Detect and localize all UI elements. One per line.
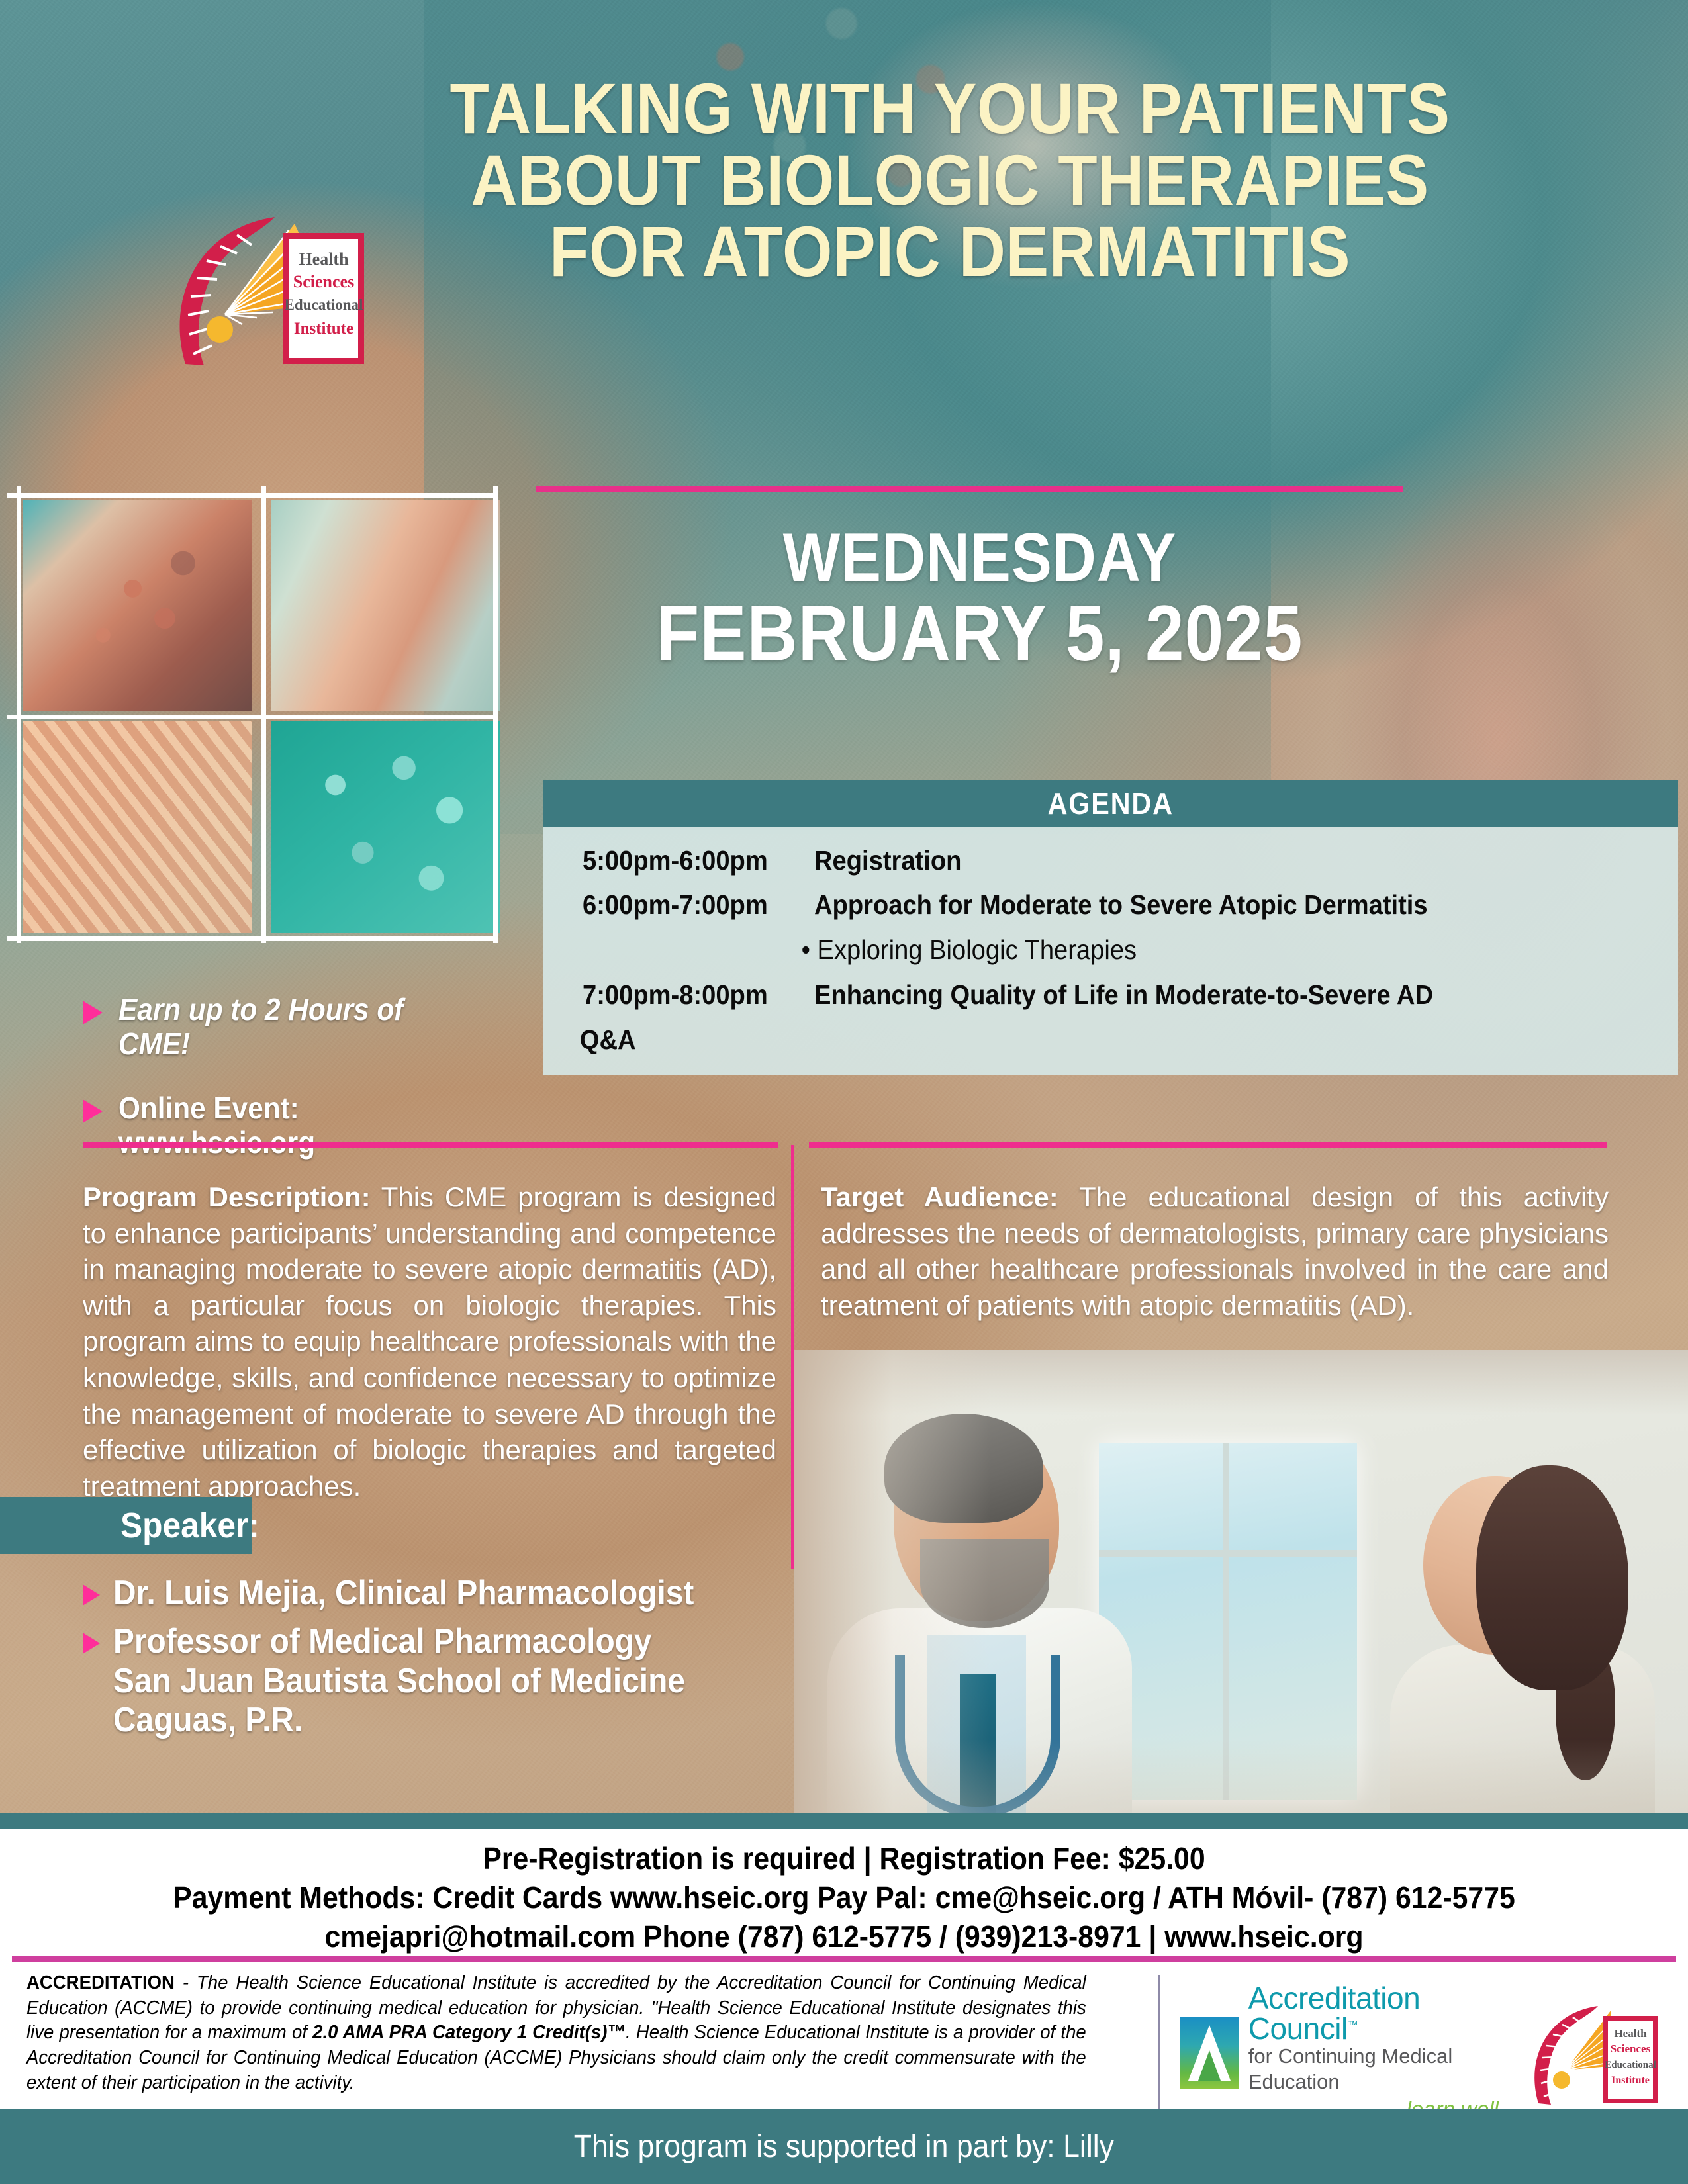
title-divider: [536, 486, 1403, 492]
svg-text:Health: Health: [299, 250, 349, 269]
agenda-time: 5:00pm-6:00pm: [583, 846, 798, 876]
skin-image-3: [23, 721, 252, 933]
list-item: Professor of Medical Pharmacology San Ju…: [83, 1622, 798, 1740]
accme-logo-text: Accreditation Council™ for Continuing Me…: [1248, 1983, 1499, 2123]
agenda-row: 6:00pm-7:00pm Approach for Moderate to S…: [543, 890, 1678, 920]
agenda-panel: AGENDA 5:00pm-6:00pm Registration 6:00pm…: [543, 780, 1678, 1075]
program-description-label: Program Description:: [83, 1181, 371, 1212]
support-text: This program is supported in part by: Li…: [574, 2128, 1114, 2165]
svg-text:Health: Health: [1614, 2027, 1647, 2040]
event-day: WEDNESDAY: [595, 523, 1364, 593]
svg-text:Institute: Institute: [294, 320, 353, 338]
accreditation-dash: -: [175, 1972, 197, 1993]
triangle-bullet-icon: [83, 1001, 103, 1024]
accreditation-section: ACCREDITATION - The Health Science Educa…: [26, 1971, 1662, 2123]
agenda-body: 5:00pm-6:00pm Registration 6:00pm-7:00pm…: [543, 827, 1678, 1075]
title-line-1: TALKING WITH YOUR PATIENTS: [429, 73, 1472, 144]
agenda-row: 5:00pm-6:00pm Registration: [543, 846, 1678, 876]
svg-text:Sciences: Sciences: [1611, 2042, 1651, 2055]
svg-text:Educational: Educational: [1605, 2060, 1656, 2070]
accme-line-2: for Continuing Medical Education: [1248, 2044, 1499, 2095]
grid-line: [7, 936, 496, 941]
flyer-root: Health Sciences Educational Institute TA…: [0, 0, 1688, 2184]
agenda-title: Enhancing Quality of Life in Moderate-to…: [814, 980, 1433, 1010]
accreditation-logos: Accreditation Council™ for Continuing Me…: [1180, 1971, 1662, 2123]
svg-text:Sciences: Sciences: [293, 272, 354, 291]
speaker-heading-label: Speaker:: [120, 1505, 259, 1546]
page-title: TALKING WITH YOUR PATIENTS ABOUT BIOLOGI…: [371, 73, 1529, 287]
skin-image-4: [271, 721, 500, 933]
grid-line: [7, 493, 496, 498]
event-full-date: FEBRUARY 5, 2025: [595, 593, 1364, 674]
program-description-body: This CME program is designed to enhance …: [83, 1181, 776, 1502]
list-item: Earn up to 2 Hours of CME!: [83, 993, 506, 1061]
target-audience-label: Target Audience:: [821, 1181, 1058, 1212]
agenda-header: AGENDA: [543, 780, 1678, 827]
grid-line: [7, 715, 496, 719]
registration-line-1: Pre-Registration is required | Registrat…: [59, 1839, 1629, 1878]
agenda-title: Approach for Moderate to Severe Atopic D…: [814, 890, 1428, 920]
agenda-title: Registration: [814, 846, 961, 876]
registration-line-2[interactable]: Payment Methods: Credit Cards www.hseic.…: [59, 1878, 1629, 1917]
event-date: WEDNESDAY FEBRUARY 5, 2025: [543, 523, 1417, 674]
highlight-online-event[interactable]: Online Event: www.hseic.org: [118, 1091, 315, 1160]
speaker-affiliation: Professor of Medical Pharmacology San Ju…: [113, 1622, 685, 1740]
agenda-qa: Q&A: [543, 1024, 1599, 1056]
hsei-logo: Health Sciences Educational Institute: [159, 199, 371, 377]
accme-line-1: Accreditation Council™: [1248, 1983, 1499, 2044]
triangle-bullet-icon: [83, 1099, 103, 1123]
list-item: Dr. Luis Mejia, Clinical Pharmacologist: [83, 1574, 798, 1613]
svg-text:Educational: Educational: [285, 296, 363, 313]
accme-mark-icon: [1180, 2017, 1239, 2089]
highlights-list: Earn up to 2 Hours of CME! Online Event:…: [83, 993, 506, 1190]
highlight-cme-hours: Earn up to 2 Hours of CME!: [118, 993, 475, 1061]
hsei-logo-small: Health Sciences Educational Institute: [1521, 1993, 1662, 2113]
skin-image-2: [271, 500, 500, 711]
accreditation-label: ACCREDITATION: [26, 1972, 175, 1993]
column-divider: [791, 1145, 794, 1569]
accreditation-vertical-divider: [1158, 1975, 1160, 2123]
speaker-heading-box: Speaker:: [0, 1497, 252, 1554]
triangle-bullet-icon: [83, 1633, 100, 1654]
target-audience: Target Audience: The educational design …: [821, 1179, 1609, 1324]
photo-edge-fade: [794, 1350, 1688, 1813]
agenda-time: 7:00pm-8:00pm: [583, 980, 798, 1010]
skin-image-1: [23, 500, 252, 711]
registration-line-3[interactable]: cmejapri@hotmail.com Phone (787) 612-577…: [59, 1917, 1629, 1956]
doctor-patient-photo: [794, 1350, 1688, 1813]
support-bar: This program is supported in part by: Li…: [0, 2109, 1688, 2184]
program-description: Program Description: This CME program is…: [83, 1179, 776, 1504]
description-divider-left: [83, 1142, 778, 1148]
description-divider-right: [809, 1142, 1607, 1148]
agenda-heading-label: AGENDA: [1047, 786, 1173, 821]
condition-image-grid: [7, 486, 496, 943]
title-line-3: FOR ATOPIC DERMATITIS: [429, 216, 1472, 287]
list-item: Online Event: www.hseic.org: [83, 1091, 506, 1160]
title-line-2: ABOUT BIOLOGIC THERAPIES: [429, 144, 1472, 216]
agenda-subitem: • Exploring Biologic Therapies: [543, 934, 1599, 966]
section-separator: [0, 1813, 1688, 1829]
accreditation-text: ACCREDITATION - The Health Science Educa…: [26, 1971, 1086, 2095]
agenda-time: 6:00pm-7:00pm: [583, 890, 798, 920]
accreditation-divider: [12, 1956, 1676, 1962]
speaker-name: Dr. Luis Mejia, Clinical Pharmacologist: [113, 1574, 694, 1613]
triangle-bullet-icon: [83, 1584, 100, 1606]
accme-logo: Accreditation Council™ for Continuing Me…: [1180, 1983, 1499, 2123]
accreditation-credit: 2.0 AMA PRA Category 1 Credit(s)™: [312, 2022, 626, 2043]
registration-info: Pre-Registration is required | Registrat…: [59, 1839, 1629, 1956]
agenda-row: 7:00pm-8:00pm Enhancing Quality of Life …: [543, 980, 1678, 1010]
speaker-list: Dr. Luis Mejia, Clinical Pharmacologist …: [83, 1574, 798, 1749]
svg-text:Institute: Institute: [1611, 2075, 1650, 2086]
